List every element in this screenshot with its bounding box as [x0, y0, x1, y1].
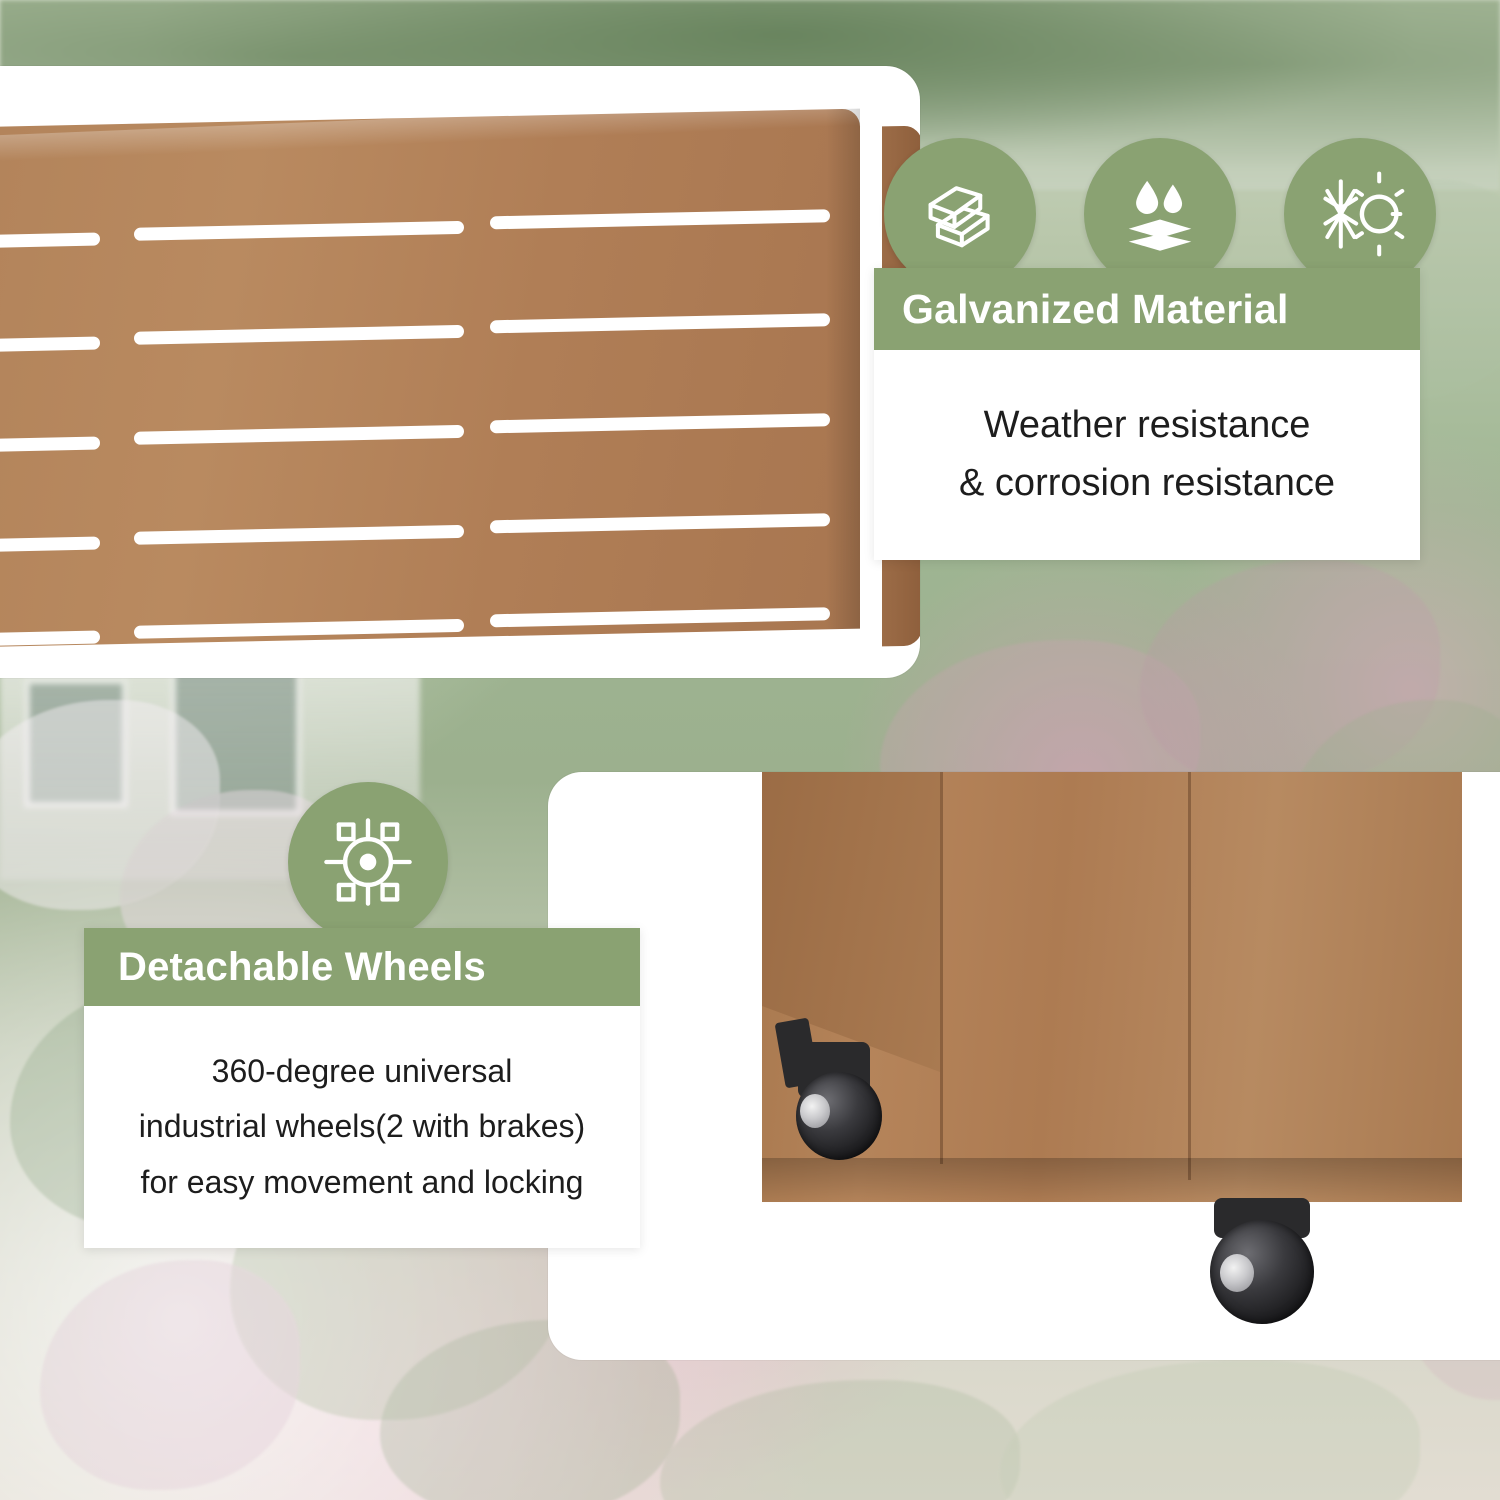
cabinet-seam — [940, 772, 943, 1164]
infographic-canvas: Galvanized Material Weather resistance &… — [0, 0, 1500, 1500]
feature-body-line: 360-degree universal — [212, 1044, 513, 1099]
feature-callout-galvanized: Galvanized Material Weather resistance &… — [874, 268, 1420, 560]
feature-body-line: industrial wheels(2 with brakes) — [139, 1099, 585, 1154]
feature-callout-wheels: Detachable Wheels 360-degree universal i… — [84, 928, 640, 1248]
cabinet-seam — [1188, 772, 1191, 1180]
feature-body-line: & corrosion resistance — [959, 455, 1335, 513]
caster-wheel-right — [1200, 1198, 1350, 1358]
feature-title-galvanized: Galvanized Material — [874, 268, 1420, 350]
caster-wheel-target-icon — [288, 782, 448, 942]
feature-body-line: Weather resistance — [984, 397, 1311, 455]
feature-body-line: for easy movement and locking — [141, 1155, 584, 1210]
feature-title-wheels: Detachable Wheels — [84, 928, 640, 1006]
feature-body-wheels: 360-degree universal industrial wheels(2… — [84, 1006, 640, 1248]
product-photo-slatted-door — [0, 66, 920, 678]
feature-body-galvanized: Weather resistance & corrosion resistanc… — [874, 350, 1420, 560]
product-photo-cabinet-casters — [548, 772, 1500, 1360]
caster-wheel-left — [772, 1020, 902, 1170]
door-slat-body — [0, 109, 860, 648]
